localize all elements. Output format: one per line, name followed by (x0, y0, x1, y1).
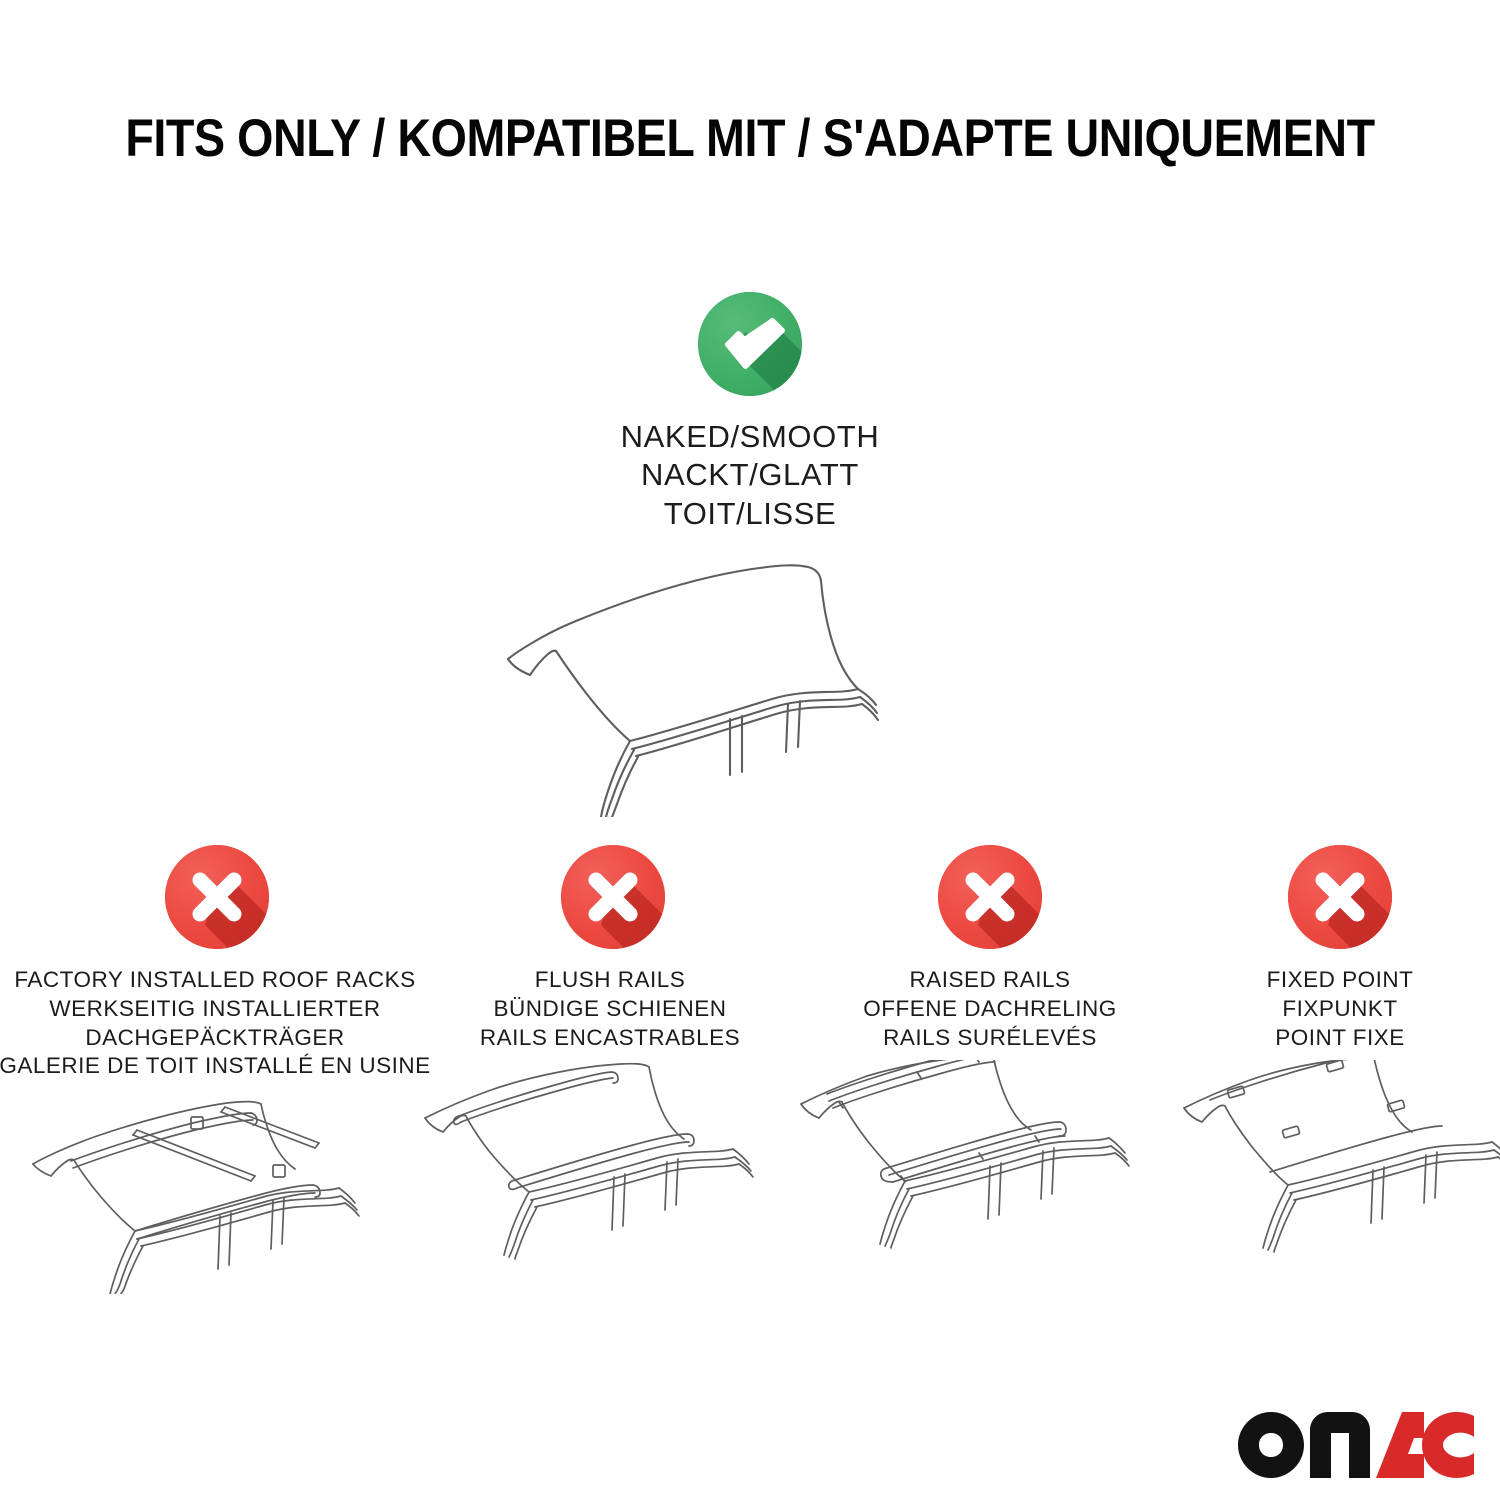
incompatible-labels: FLUSH RAILS BÜNDIGE SCHIENEN RAILS ENCAS… (480, 966, 740, 1052)
cross-circle-icon (561, 845, 665, 949)
label-fr: RAILS ENCASTRABLES (480, 1024, 740, 1053)
cross-circle-icon (165, 845, 269, 949)
omac-logo (1238, 1412, 1474, 1478)
incompatible-section: FACTORY INSTALLED ROOF RACKS WERKSEITIG … (0, 845, 1500, 1294)
cross-mark-icon (561, 845, 665, 949)
compatible-section: NAKED/SMOOTH NACKT/GLATT TOIT/LISSE (0, 292, 1500, 817)
label-fr: RAILS SURÉLEVÉS (863, 1024, 1117, 1053)
compatible-label-de: NACKT/GLATT (621, 456, 880, 494)
cross-circle-icon (938, 845, 1042, 949)
cross-mark-icon (938, 845, 1042, 949)
label-fr: POINT FIXE (1267, 1024, 1414, 1053)
omac-logo-mark (1238, 1412, 1474, 1478)
label-en: RAISED RAILS (863, 966, 1117, 995)
car-roof-flush-rails-illustration (415, 1060, 805, 1265)
label-de: OFFENE DACHRELING (863, 995, 1117, 1024)
cross-mark-icon (165, 845, 269, 949)
compatible-label-fr: TOIT/LISSE (621, 495, 880, 533)
check-circle-icon (698, 292, 802, 396)
label-de-line1: WERKSEITIG INSTALLIERTER (0, 995, 431, 1024)
compatible-label-en: NAKED/SMOOTH (621, 418, 880, 456)
label-de: BÜNDIGE SCHIENEN (480, 995, 740, 1024)
logo-letter-c (1422, 1412, 1474, 1478)
label-en: FACTORY INSTALLED ROOF RACKS (0, 966, 431, 995)
compatible-labels: NAKED/SMOOTH NACKT/GLATT TOIT/LISSE (621, 418, 880, 533)
label-de-line2: DACHGEPÄCKTRÄGER (0, 1024, 431, 1053)
car-roof-naked-smooth-illustration (490, 547, 1010, 817)
cross-mark-icon (1288, 845, 1392, 949)
incompatible-item-flush-rails: FLUSH RAILS BÜNDIGE SCHIENEN RAILS ENCAS… (420, 845, 800, 1294)
car-roof-fixed-point-illustration (1180, 1060, 1500, 1265)
incompatible-item-fixed-point: FIXED POINT FIXPUNKT POINT FIXE (1190, 845, 1490, 1294)
car-roof-raised-rails-illustration (795, 1060, 1185, 1265)
incompatible-item-factory-racks: FACTORY INSTALLED ROOF RACKS WERKSEITIG … (5, 845, 425, 1294)
incompatible-labels: FACTORY INSTALLED ROOF RACKS WERKSEITIG … (0, 966, 431, 1081)
label-en: FLUSH RAILS (480, 966, 740, 995)
check-mark-icon (698, 292, 802, 396)
incompatible-labels: RAISED RAILS OFFENE DACHRELING RAILS SUR… (863, 966, 1117, 1052)
incompatible-item-raised-rails: RAISED RAILS OFFENE DACHRELING RAILS SUR… (800, 845, 1180, 1294)
page-title: FITS ONLY / KOMPATIBEL MIT / S'ADAPTE UN… (90, 108, 1410, 169)
cross-circle-icon (1288, 845, 1392, 949)
logo-letter-a (1376, 1412, 1424, 1478)
label-de: FIXPUNKT (1267, 995, 1414, 1024)
logo-letter-o (1238, 1412, 1304, 1478)
label-en: FIXED POINT (1267, 966, 1414, 995)
logo-letter-m (1310, 1412, 1370, 1478)
incompatible-labels: FIXED POINT FIXPUNKT POINT FIXE (1267, 966, 1414, 1052)
label-fr: GALERIE DE TOIT INSTALLÉ EN USINE (0, 1052, 431, 1081)
car-roof-factory-racks-illustration (15, 1089, 415, 1294)
